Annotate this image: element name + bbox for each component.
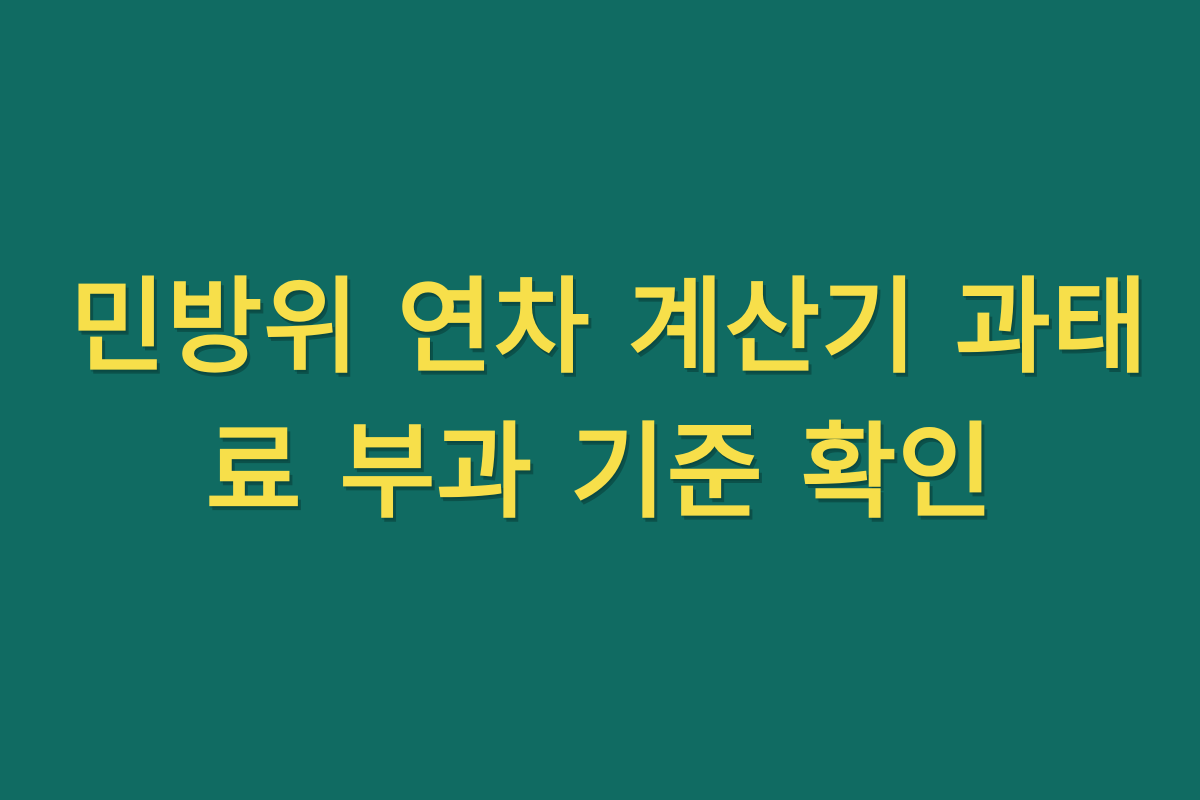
headline-block: 민방위 연차 계산기 과태 료 부과 기준 확인 [60, 255, 1140, 545]
thumbnail-canvas: 민방위 연차 계산기 과태 료 부과 기준 확인 [0, 0, 1200, 800]
headline-line-1: 민방위 연차 계산기 과태 [70, 255, 1130, 400]
headline-line-2: 료 부과 기준 확인 [70, 400, 1130, 545]
